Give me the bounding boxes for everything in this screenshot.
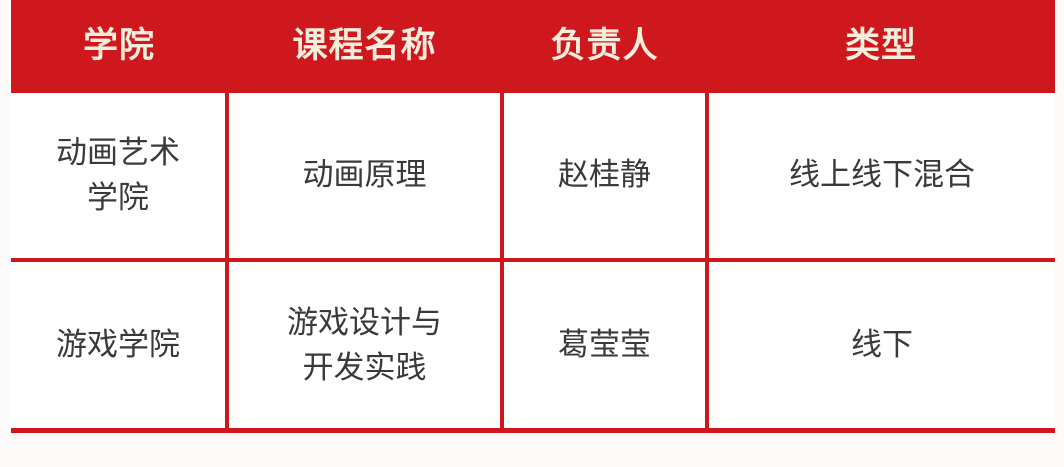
cell-course-name-line-1: 动画原理	[235, 153, 494, 198]
cell-owner: 赵桂静	[502, 93, 707, 260]
cell-course-name-line-2: 开发实践	[235, 346, 494, 391]
cell-type: 线上线下混合	[707, 93, 1055, 260]
course-table: 学院 课程名称 负责人 类型 动画艺术 学院 动画原理 赵桂静 线上线下混合	[11, 0, 1055, 429]
table-header: 学院 课程名称 负责人 类型	[11, 0, 1055, 93]
cell-college-line-2: 学院	[17, 176, 219, 221]
column-header-course-name: 课程名称	[227, 0, 502, 93]
cell-course-name: 游戏设计与 开发实践	[227, 260, 502, 429]
cell-college-line-1: 游戏学院	[17, 323, 219, 368]
cell-type: 线下	[707, 260, 1055, 429]
table-bottom-rule	[11, 428, 1055, 433]
cell-college-line-1: 动画艺术	[17, 131, 219, 176]
table-body: 动画艺术 学院 动画原理 赵桂静 线上线下混合 游戏学院 游戏设计与 开发实践 …	[11, 93, 1055, 429]
table-row: 动画艺术 学院 动画原理 赵桂静 线上线下混合	[11, 93, 1055, 260]
cell-college: 游戏学院	[11, 260, 227, 429]
course-table-container: 学院 课程名称 负责人 类型 动画艺术 学院 动画原理 赵桂静 线上线下混合	[11, 0, 1055, 429]
cell-owner: 葛莹莹	[502, 260, 707, 429]
cell-course-name-line-1: 游戏设计与	[235, 301, 494, 346]
table-header-row: 学院 课程名称 负责人 类型	[11, 0, 1055, 93]
column-header-college: 学院	[11, 0, 227, 93]
table-row: 游戏学院 游戏设计与 开发实践 葛莹莹 线下	[11, 260, 1055, 429]
cell-course-name: 动画原理	[227, 93, 502, 260]
column-header-type: 类型	[707, 0, 1055, 93]
column-header-owner: 负责人	[502, 0, 707, 93]
cell-college: 动画艺术 学院	[11, 93, 227, 260]
